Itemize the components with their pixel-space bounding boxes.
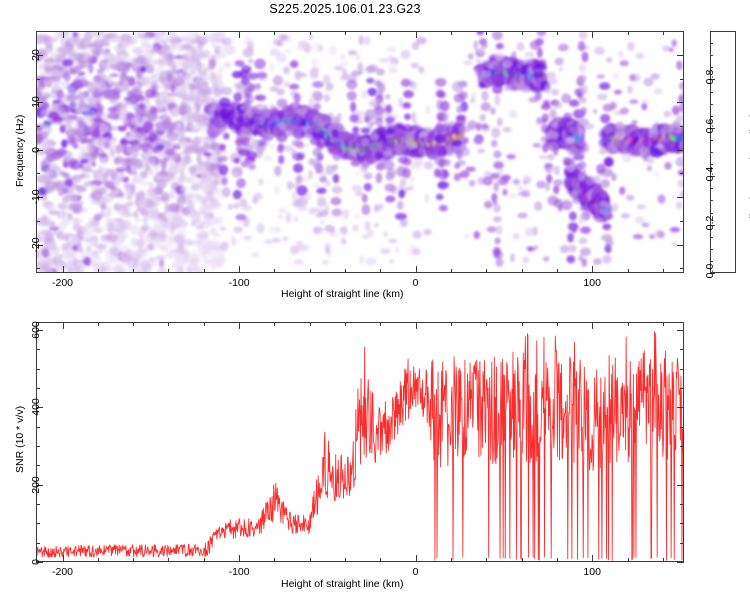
y-minor-tick	[680, 173, 684, 174]
snr-y-axis-label: SNR (10 * v/v)	[14, 406, 26, 473]
x-minor-tick	[274, 558, 275, 562]
y-tick-label: 600	[30, 308, 42, 352]
x-minor-tick	[486, 31, 487, 35]
y-minor-tick	[36, 523, 40, 524]
y-minor-tick	[680, 31, 684, 32]
x-minor-tick	[451, 322, 452, 326]
y-minor-tick	[680, 504, 684, 505]
spectrogram-x-axis-label: Height of straight line (km)	[281, 288, 404, 300]
x-minor-tick	[168, 269, 169, 273]
y-tick	[677, 245, 684, 246]
x-minor-tick	[663, 31, 664, 35]
x-tick	[592, 322, 593, 329]
y-tick	[677, 55, 684, 56]
y-tick	[677, 197, 684, 198]
x-tick	[239, 555, 240, 562]
y-minor-tick	[680, 465, 684, 466]
x-tick	[63, 266, 64, 273]
snr-plot	[36, 322, 684, 562]
y-minor-tick	[680, 523, 684, 524]
colorbar-tick-label: 0.6	[704, 109, 716, 143]
y-minor-tick	[680, 427, 684, 428]
y-minor-tick	[680, 268, 684, 269]
colorbar-minor-tick	[710, 249, 713, 250]
x-minor-tick	[522, 31, 523, 35]
x-minor-tick	[522, 558, 523, 562]
x-tick	[416, 555, 417, 562]
y-minor-tick	[680, 79, 684, 80]
x-minor-tick	[168, 558, 169, 562]
x-minor-tick	[557, 322, 558, 326]
x-tick	[416, 266, 417, 273]
x-minor-tick	[98, 269, 99, 273]
x-tick-label: -100	[215, 566, 263, 578]
y-minor-tick	[680, 388, 684, 389]
x-minor-tick	[274, 31, 275, 35]
colorbar-minor-tick	[710, 43, 713, 44]
colorbar-minor-tick	[710, 55, 713, 56]
x-tick	[416, 322, 417, 329]
x-tick	[592, 31, 593, 38]
x-minor-tick	[451, 269, 452, 273]
x-minor-tick	[557, 269, 558, 273]
y-tick-label: 200	[30, 463, 42, 507]
y-tick	[677, 407, 684, 408]
x-tick	[416, 31, 417, 38]
x-tick-label: 0	[392, 566, 440, 578]
x-minor-tick	[274, 269, 275, 273]
x-minor-tick	[486, 269, 487, 273]
spectrogram-y-axis-label: Frequency (Hz)	[14, 115, 26, 187]
x-minor-tick	[663, 269, 664, 273]
snr-canvas	[37, 323, 683, 561]
x-minor-tick	[628, 31, 629, 35]
x-minor-tick	[133, 269, 134, 273]
x-minor-tick	[486, 558, 487, 562]
x-minor-tick	[522, 269, 523, 273]
colorbar-tick-label: 0.8	[704, 60, 716, 94]
x-minor-tick	[628, 322, 629, 326]
x-tick	[63, 555, 64, 562]
y-tick-label: -10	[30, 175, 42, 219]
x-minor-tick	[204, 558, 205, 562]
x-minor-tick	[663, 558, 664, 562]
x-minor-tick	[204, 269, 205, 273]
x-minor-tick	[133, 31, 134, 35]
x-minor-tick	[380, 31, 381, 35]
x-minor-tick	[628, 269, 629, 273]
y-minor-tick	[36, 268, 40, 269]
y-tick-label: 0	[30, 128, 42, 172]
colorbar-minor-tick	[710, 200, 713, 201]
x-minor-tick	[310, 31, 311, 35]
x-minor-tick	[310, 269, 311, 273]
y-tick-label: 400	[30, 385, 42, 429]
x-minor-tick	[345, 558, 346, 562]
x-tick	[63, 31, 64, 38]
x-tick	[239, 31, 240, 38]
x-minor-tick	[204, 322, 205, 326]
y-tick	[677, 102, 684, 103]
x-minor-tick	[204, 31, 205, 35]
y-minor-tick	[680, 543, 684, 544]
x-minor-tick	[380, 558, 381, 562]
y-tick-label: 20	[30, 33, 42, 77]
x-tick-label: 100	[568, 566, 616, 578]
x-minor-tick	[557, 31, 558, 35]
y-minor-tick	[36, 369, 40, 370]
x-minor-tick	[168, 31, 169, 35]
y-minor-tick	[680, 349, 684, 350]
y-tick	[677, 330, 684, 331]
page-title: S225.2025.106.01.23.G23	[0, 2, 690, 16]
x-tick-label: -100	[215, 277, 263, 289]
y-minor-tick	[36, 446, 40, 447]
x-tick	[63, 322, 64, 329]
colorbar-minor-tick	[710, 104, 713, 105]
x-minor-tick	[168, 322, 169, 326]
x-minor-tick	[628, 558, 629, 562]
x-minor-tick	[486, 322, 487, 326]
x-minor-tick	[451, 31, 452, 35]
figure-canvas: S225.2025.106.01.23.G23 -200-10001002010…	[0, 0, 750, 600]
x-minor-tick	[345, 322, 346, 326]
snr-x-axis-label: Height of straight line (km)	[281, 578, 404, 590]
x-tick	[239, 266, 240, 273]
x-tick-label: -200	[39, 566, 87, 578]
x-minor-tick	[98, 558, 99, 562]
x-minor-tick	[310, 322, 311, 326]
y-minor-tick	[36, 31, 40, 32]
x-minor-tick	[310, 558, 311, 562]
x-minor-tick	[133, 322, 134, 326]
y-tick	[677, 562, 684, 563]
x-minor-tick	[98, 31, 99, 35]
y-minor-tick	[680, 126, 684, 127]
x-tick	[592, 555, 593, 562]
y-minor-tick	[680, 446, 684, 447]
spectrogram-plot	[36, 31, 684, 273]
x-tick-label: 100	[568, 277, 616, 289]
y-tick	[677, 150, 684, 151]
x-tick-label: -200	[39, 277, 87, 289]
colorbar-tick-label: 0.2	[704, 206, 716, 240]
x-minor-tick	[345, 269, 346, 273]
y-tick-label: 0	[30, 540, 42, 584]
x-tick	[592, 266, 593, 273]
y-minor-tick	[36, 221, 40, 222]
x-minor-tick	[380, 322, 381, 326]
x-minor-tick	[133, 558, 134, 562]
colorbar-tick-label: 0.0	[704, 254, 716, 288]
x-minor-tick	[451, 558, 452, 562]
y-minor-tick	[680, 221, 684, 222]
y-minor-tick	[36, 126, 40, 127]
y-tick-label: -20	[30, 223, 42, 267]
x-minor-tick	[380, 269, 381, 273]
y-tick	[677, 485, 684, 486]
x-minor-tick	[98, 322, 99, 326]
colorbar-tick-label: 0.4	[704, 157, 716, 191]
spectrogram-canvas	[37, 32, 683, 272]
y-minor-tick	[680, 369, 684, 370]
x-minor-tick	[522, 322, 523, 326]
colorbar-minor-tick	[710, 152, 713, 153]
y-tick-label: 10	[30, 80, 42, 124]
x-minor-tick	[274, 322, 275, 326]
x-tick	[239, 322, 240, 329]
x-minor-tick	[345, 31, 346, 35]
x-minor-tick	[557, 558, 558, 562]
x-minor-tick	[663, 322, 664, 326]
